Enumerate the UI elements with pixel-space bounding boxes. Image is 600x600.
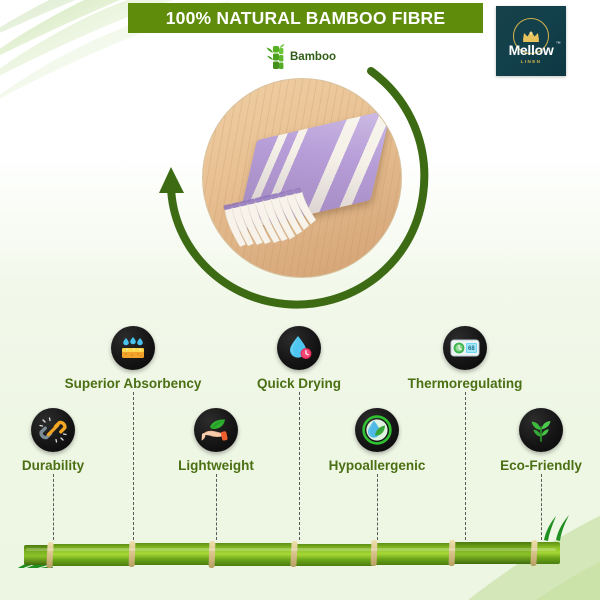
trademark-mark: ™ [556, 42, 561, 47]
product-infographic: 100% NATURAL BAMBOO FIBRE Mellow ™ LINEN [0, 0, 600, 600]
bamboo-stalk-icon [265, 44, 287, 70]
feature-quick-drying[interactable]: Quick Drying [224, 326, 374, 391]
feature-lightweight[interactable]: Lightweight [141, 408, 291, 473]
banner-title: 100% NATURAL BAMBOO FIBRE [166, 8, 446, 29]
feature-label-durability: Durability [22, 458, 84, 473]
water-drops-on-sponge-icon [111, 326, 155, 370]
brand-subtitle: LINEN [521, 59, 542, 64]
header-banner: 100% NATURAL BAMBOO FIBRE [128, 3, 483, 33]
feature-durability[interactable]: Durability [0, 408, 128, 473]
feature-label-superior-absorbency: Superior Absorbency [65, 376, 202, 391]
chain-link-icon [31, 408, 75, 452]
towel-fringe [222, 184, 328, 258]
sprout-plant-icon [519, 408, 563, 452]
water-drop-clock-icon [277, 326, 321, 370]
feature-thermoregulating[interactable]: 68 Thermoregulating [390, 326, 540, 391]
feature-label-eco-friendly: Eco-Friendly [500, 458, 582, 473]
feature-label-quick-drying: Quick Drying [257, 376, 341, 391]
feature-label-thermoregulating: Thermoregulating [408, 376, 523, 391]
thermostat-icon: 68 [443, 326, 487, 370]
bamboo-leaf-right [544, 515, 569, 541]
hand-holding-leaf-icon [194, 408, 238, 452]
brand-logo: Mellow ™ LINEN [496, 6, 566, 76]
horizontal-bamboo-stalk-icon [0, 498, 600, 568]
feature-label-lightweight: Lightweight [178, 458, 254, 473]
bamboo-tag: Bamboo [265, 44, 336, 70]
bamboo-tag-label: Bamboo [290, 51, 336, 63]
feature-eco-friendly[interactable]: Eco-Friendly [466, 408, 600, 473]
feature-superior-absorbency[interactable]: Superior Absorbency [58, 326, 208, 391]
product-photo [202, 78, 402, 278]
feature-hypoallergenic[interactable]: Hypoallergenic [302, 408, 452, 473]
feature-label-hypoallergenic: Hypoallergenic [329, 458, 426, 473]
brand-name: Mellow ™ [509, 43, 554, 57]
droplet-leaf-shield-icon [355, 408, 399, 452]
folded-towel-image [210, 114, 396, 259]
svg-text:68: 68 [468, 346, 475, 352]
